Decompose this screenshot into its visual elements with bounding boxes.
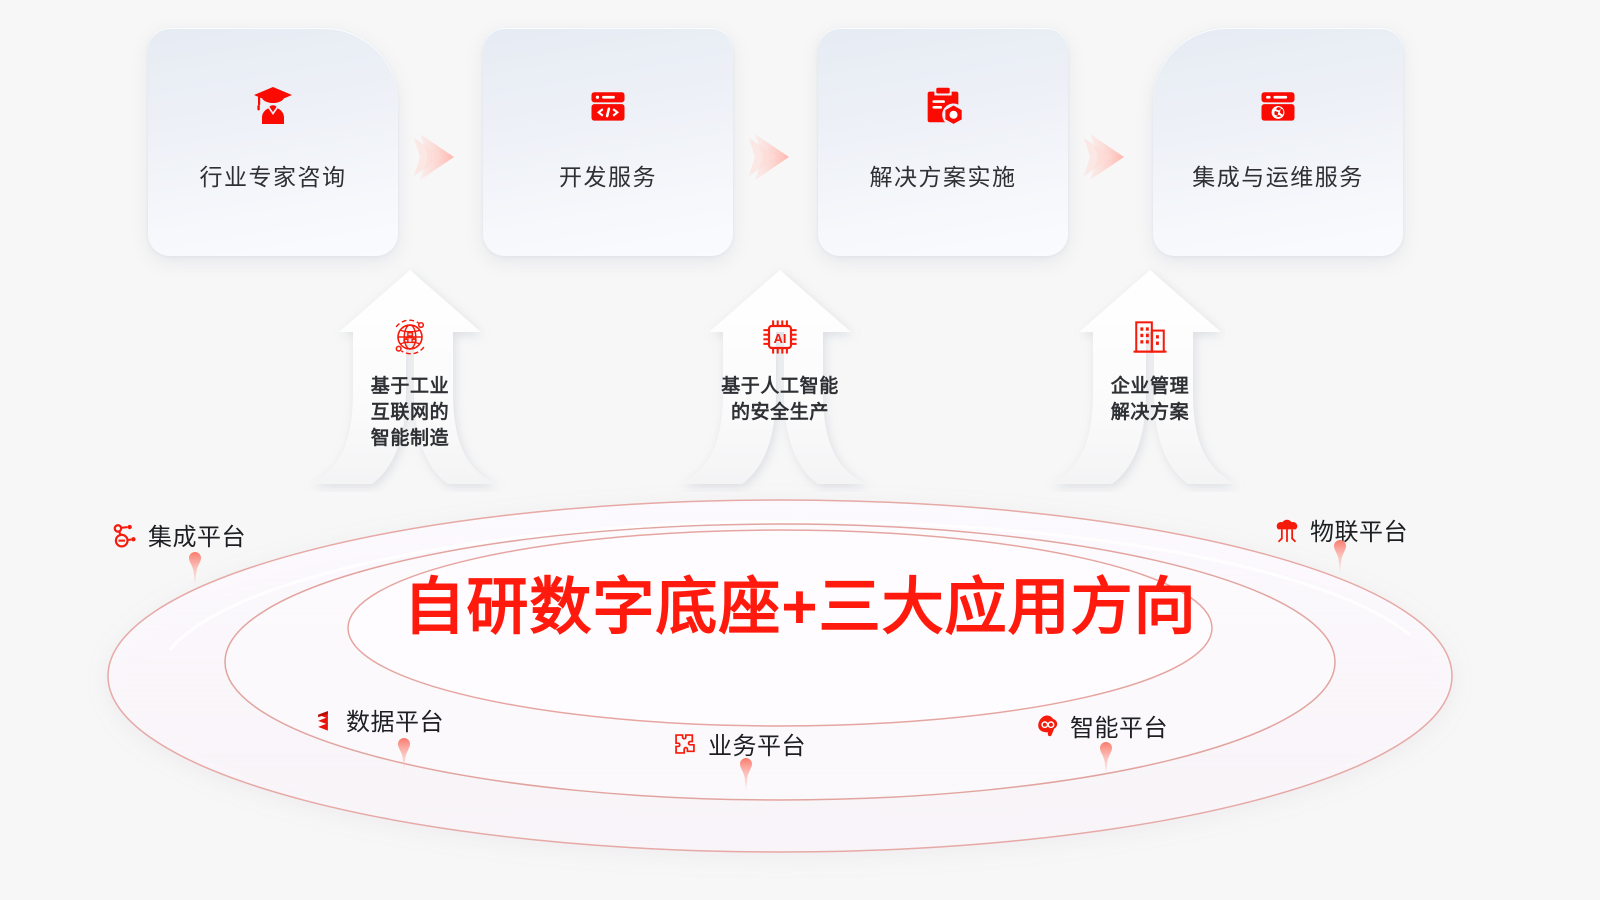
graduate-expert-icon xyxy=(247,80,299,132)
pin-marker xyxy=(396,738,412,772)
process-card-1[interactable]: 行业专家咨询 xyxy=(148,28,398,256)
platform-marker-data[interactable]: 数据平台 xyxy=(308,702,444,737)
direction-arrow-3 xyxy=(1025,262,1275,492)
platform-label: 智能平台 xyxy=(1070,708,1168,743)
process-card-4[interactable]: 集成与运维服务 xyxy=(1153,28,1403,256)
platform-marker-business[interactable]: 业务平台 xyxy=(670,726,806,761)
puzzle-business-icon xyxy=(670,729,700,759)
process-card-2[interactable]: 开发服务 xyxy=(483,28,733,256)
intelligence-brain-icon xyxy=(1032,711,1062,741)
browser-globe-icon xyxy=(1252,80,1304,132)
pin-marker xyxy=(1332,540,1348,574)
direction-arrow-2 xyxy=(655,262,905,492)
chevron-right-icon xyxy=(410,126,472,188)
process-card-3[interactable]: 解决方案实施 xyxy=(818,28,1068,256)
process-card-label: 开发服务 xyxy=(559,158,657,192)
pin-marker xyxy=(187,552,203,586)
iot-tree-icon xyxy=(1272,515,1302,545)
chevron-right-icon xyxy=(745,126,807,188)
code-window-icon xyxy=(582,80,634,132)
diagram-canvas: 行业专家咨询 开发服务 解 xyxy=(0,0,1600,900)
clipboard-gear-icon xyxy=(917,80,969,132)
pin-marker xyxy=(738,758,754,792)
direction-arrow-1 xyxy=(285,262,535,492)
data-stack-icon xyxy=(308,705,338,735)
platform-label: 物联平台 xyxy=(1310,512,1408,547)
process-card-label: 行业专家咨询 xyxy=(200,158,347,192)
process-card-label: 解决方案实施 xyxy=(870,158,1017,192)
process-card-label: 集成与运维服务 xyxy=(1192,158,1364,192)
platform-label: 集成平台 xyxy=(148,517,246,552)
pin-marker xyxy=(1098,742,1114,776)
platform-label: 业务平台 xyxy=(708,726,806,761)
platform-label: 数据平台 xyxy=(346,702,444,737)
base-title: 自研数字底座+三大应用方向 xyxy=(0,556,1600,646)
integration-node-icon xyxy=(110,520,140,550)
chevron-right-icon xyxy=(1080,126,1142,188)
platform-marker-intelligence[interactable]: 智能平台 xyxy=(1032,708,1168,743)
platform-marker-integration[interactable]: 集成平台 xyxy=(110,517,246,552)
